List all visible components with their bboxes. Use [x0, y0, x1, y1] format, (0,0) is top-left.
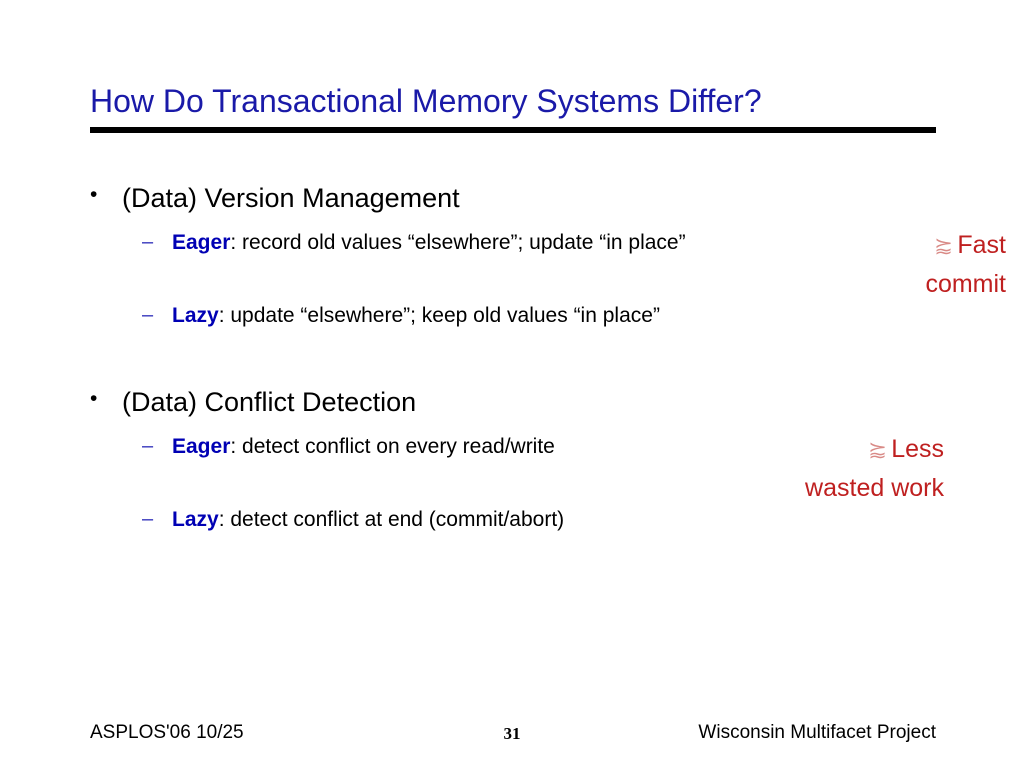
sub-bullet-eager-version: – Eager: record old values “elsewhere”; … [142, 230, 686, 256]
annotation-text-1: Less [891, 435, 944, 463]
slide-footer: ASPLOS'06 10/25 31 Wisconsin Multifacet … [0, 722, 1024, 752]
sub-bullet-text: Lazy: update “elsewhere”; keep old value… [172, 303, 660, 329]
sub-bullet-rest: : detect conflict at end (commit/abort) [219, 508, 564, 531]
sub-bullet-rest: : update “elsewhere”; keep old values “i… [219, 304, 660, 327]
sub-bullet-text: Eager: detect conflict on every read/wri… [172, 434, 555, 460]
sub-bullet-lazy-version: – Lazy: update “elsewhere”; keep old val… [142, 303, 660, 329]
bullet-dot-icon: • [90, 386, 122, 412]
bullet-dot-icon: • [90, 182, 122, 208]
annotation-text-1: Fast [957, 231, 1006, 259]
arrow-glyph-icon: ⪸ [868, 436, 887, 464]
sub-bullet-eager-conflict: – Eager: detect conflict on every read/w… [142, 434, 555, 460]
annotation-less-wasted-work: ⪸Less wasted work [805, 430, 944, 508]
sub-bullet-lazy-conflict: – Lazy: detect conflict at end (commit/a… [142, 507, 564, 533]
annotation-text-2: commit [925, 265, 1006, 304]
body-content: • (Data) Version Management – Eager: rec… [0, 0, 1024, 768]
footer-project-label: Wisconsin Multifacet Project [698, 722, 936, 744]
dash-bullet-icon: – [142, 303, 172, 328]
dash-bullet-icon: – [142, 230, 172, 255]
dash-bullet-icon: – [142, 507, 172, 532]
keyword-lazy: Lazy [172, 508, 219, 531]
bullet-label: (Data) Version Management [122, 182, 460, 214]
bullet-item-conflict-detection: • (Data) Conflict Detection [90, 386, 416, 418]
bullet-label: (Data) Conflict Detection [122, 386, 416, 418]
keyword-eager: Eager [172, 231, 230, 254]
keyword-eager: Eager [172, 435, 230, 458]
sub-bullet-text: Lazy: detect conflict at end (commit/abo… [172, 507, 564, 533]
arrow-glyph-icon: ⪸ [934, 232, 953, 260]
bullet-item-version-management: • (Data) Version Management [90, 182, 460, 214]
annotation-line-1: ⪸Less [805, 430, 944, 469]
sub-bullet-rest: : detect conflict on every read/write [230, 435, 555, 458]
keyword-lazy: Lazy [172, 304, 219, 327]
sub-bullet-rest: : record old values “elsewhere”; update … [230, 231, 685, 254]
annotation-text-2: wasted work [805, 469, 944, 508]
slide: How Do Transactional Memory Systems Diff… [0, 0, 1024, 768]
annotation-line-1: ⪸Fast [925, 226, 1006, 265]
sub-bullet-text: Eager: record old values “elsewhere”; up… [172, 230, 686, 256]
annotation-fast-commit: ⪸Fast commit [925, 226, 1006, 304]
dash-bullet-icon: – [142, 434, 172, 459]
